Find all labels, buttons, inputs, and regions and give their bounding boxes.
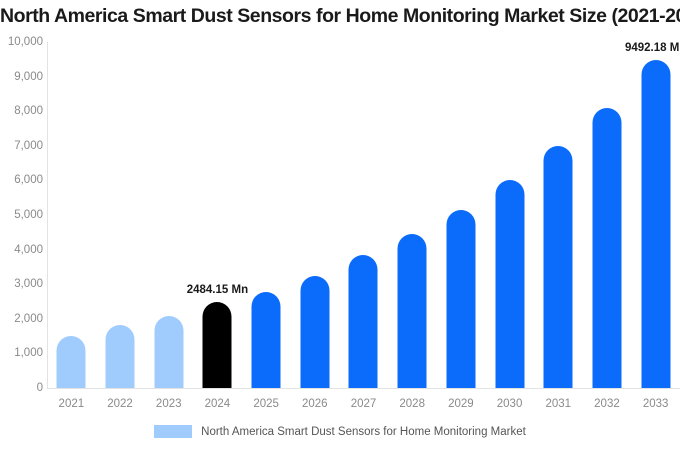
bar-slot-2031 bbox=[534, 42, 583, 388]
bar-2030[interactable] bbox=[495, 180, 524, 388]
y-axis-tick-label: 1,000 bbox=[1, 347, 43, 359]
bar-slot-2025 bbox=[242, 42, 291, 388]
x-axis-tick-label-2024: 2024 bbox=[205, 398, 231, 410]
bar-2025[interactable] bbox=[252, 292, 281, 388]
y-axis-tick-label: 2,000 bbox=[1, 313, 43, 325]
bar-value-label-2024: 2484.15 Mn bbox=[187, 284, 248, 296]
bar-2029[interactable] bbox=[446, 210, 475, 388]
bar-slot-2021 bbox=[47, 42, 96, 388]
bar-slot-2022 bbox=[96, 42, 145, 388]
bar-2026[interactable] bbox=[300, 276, 329, 388]
y-axis-tick-label: 4,000 bbox=[1, 244, 43, 256]
bar-slot-2030 bbox=[485, 42, 534, 388]
bar-2022[interactable] bbox=[106, 325, 135, 388]
x-axis-line bbox=[47, 388, 680, 389]
x-axis-tick-label-2032: 2032 bbox=[594, 398, 620, 410]
y-axis-tick-label: 3,000 bbox=[1, 278, 43, 290]
x-axis-tick-label-2025: 2025 bbox=[253, 398, 279, 410]
bar-2023[interactable] bbox=[154, 316, 183, 388]
x-axis-tick-label-2026: 2026 bbox=[302, 398, 328, 410]
x-axis-tick-label-2033: 2033 bbox=[643, 398, 669, 410]
chart-legend: North America Smart Dust Sensors for Hom… bbox=[0, 425, 680, 438]
bars-layer: 2484.15 Mn9492.18 Mn bbox=[47, 42, 680, 388]
bar-slot-2032 bbox=[583, 42, 632, 388]
bar-value-label-2033: 9492.18 Mn bbox=[625, 42, 680, 54]
y-axis-tick-label: 10,000 bbox=[1, 36, 43, 48]
y-axis-tick-label: 7,000 bbox=[1, 140, 43, 152]
legend-label-series-0: North America Smart Dust Sensors for Hom… bbox=[201, 426, 526, 438]
bar-slot-2024: 2484.15 Mn bbox=[193, 42, 242, 388]
y-axis: 10,0009,0008,0007,0006,0005,0004,0003,00… bbox=[0, 0, 43, 450]
x-axis-tick-label-2029: 2029 bbox=[448, 398, 474, 410]
x-axis-tick-label-2030: 2030 bbox=[497, 398, 523, 410]
bar-2021[interactable] bbox=[57, 336, 86, 388]
x-axis-tick-label-2023: 2023 bbox=[156, 398, 182, 410]
chart-title: North America Smart Dust Sensors for Hom… bbox=[0, 2, 680, 30]
x-axis-labels: 2021202220232024202520262027202820292030… bbox=[47, 398, 680, 416]
x-axis-tick-label-2028: 2028 bbox=[399, 398, 425, 410]
y-axis-tick-label: 9,000 bbox=[1, 71, 43, 83]
y-axis-tick-label: 8,000 bbox=[1, 105, 43, 117]
bar-slot-2033: 9492.18 Mn bbox=[631, 42, 680, 388]
y-axis-tick-label: 6,000 bbox=[1, 174, 43, 186]
bar-chart: North America Smart Dust Sensors for Hom… bbox=[0, 0, 680, 450]
x-axis-tick-label-2022: 2022 bbox=[107, 398, 133, 410]
bar-slot-2026 bbox=[290, 42, 339, 388]
bar-slot-2029 bbox=[437, 42, 486, 388]
bar-2033[interactable] bbox=[641, 60, 670, 388]
y-axis-tick-label: 0 bbox=[1, 382, 43, 394]
bar-slot-2023 bbox=[144, 42, 193, 388]
bar-slot-2027 bbox=[339, 42, 388, 388]
x-axis-tick-label-2021: 2021 bbox=[59, 398, 85, 410]
x-axis-tick-label-2031: 2031 bbox=[545, 398, 571, 410]
bar-2032[interactable] bbox=[592, 108, 621, 388]
bar-2028[interactable] bbox=[398, 234, 427, 388]
legend-swatch-series-0 bbox=[154, 425, 192, 438]
bar-slot-2028 bbox=[388, 42, 437, 388]
bar-2024[interactable] bbox=[203, 302, 232, 388]
x-axis-tick-label-2027: 2027 bbox=[351, 398, 377, 410]
bar-2031[interactable] bbox=[544, 146, 573, 388]
y-axis-tick-label: 5,000 bbox=[1, 209, 43, 221]
bar-2027[interactable] bbox=[349, 255, 378, 388]
